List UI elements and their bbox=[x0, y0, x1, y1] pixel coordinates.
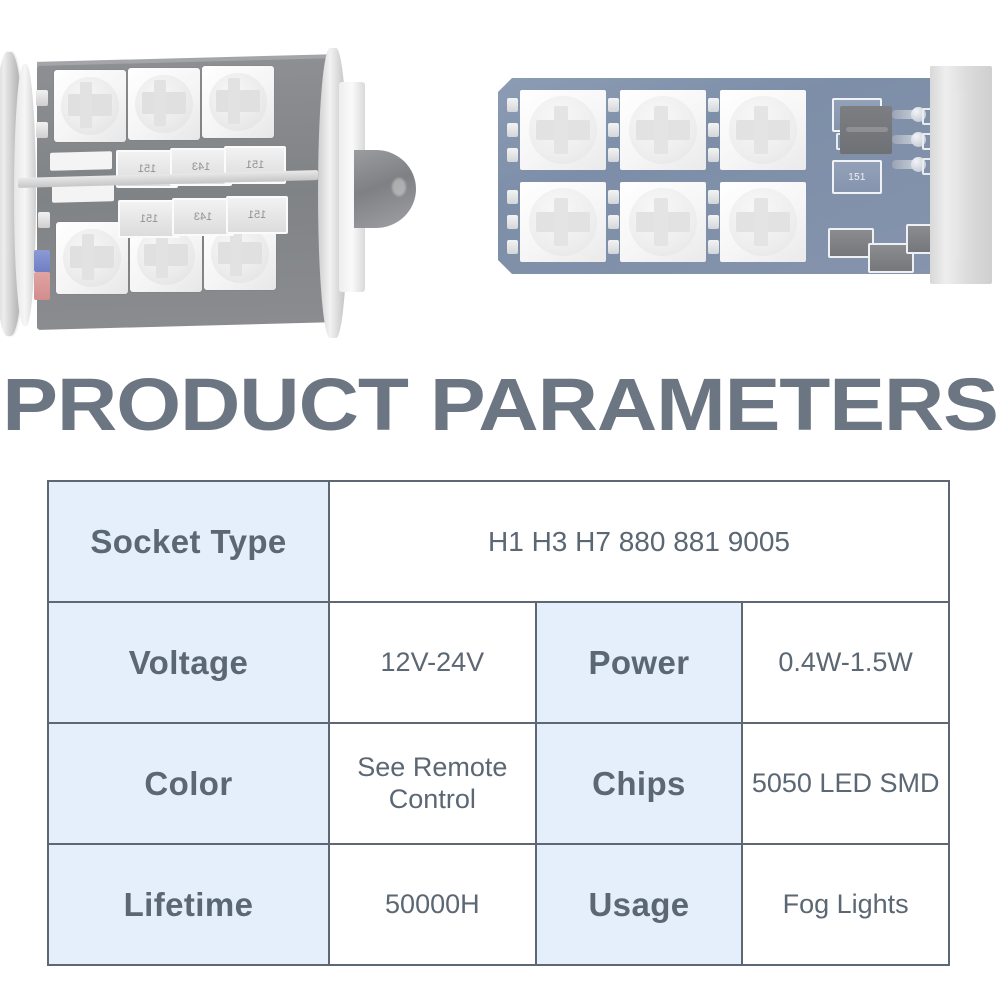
pcb-led-chip bbox=[520, 182, 606, 262]
led-bulb-module-image: 151 143 151 151 143 151 bbox=[0, 22, 452, 342]
pcb-pad bbox=[507, 240, 518, 254]
pcb-pad bbox=[708, 148, 719, 162]
product-image-banner: 151 143 151 151 143 151 bbox=[0, 0, 1000, 360]
table-row: Socket Type H1 H3 H7 880 881 9005 bbox=[48, 481, 949, 602]
pcb-pad bbox=[608, 215, 619, 229]
pcb-ic-leg bbox=[892, 110, 920, 119]
pcb-pad bbox=[708, 123, 719, 137]
spec-label-chips: Chips bbox=[536, 723, 743, 844]
spec-value-chips: 5050 LED SMD bbox=[742, 723, 949, 844]
pcb-pad bbox=[507, 98, 518, 112]
spec-label-socket-type: Socket Type bbox=[48, 481, 329, 602]
spec-label-voltage: Voltage bbox=[48, 602, 329, 723]
spec-value-power: 0.4W-1.5W bbox=[742, 602, 949, 723]
pcb-pad bbox=[507, 123, 518, 137]
table-row: Voltage 12V-24V Power 0.4W-1.5W bbox=[48, 602, 949, 723]
bulb-resistor: 151 bbox=[118, 200, 180, 238]
bulb-tip bbox=[354, 150, 416, 228]
table-row: Color See Remote Control Chips 5050 LED … bbox=[48, 723, 949, 844]
bulb-pin bbox=[36, 122, 48, 138]
bulb-pin bbox=[36, 90, 48, 106]
pcb-ic-leg bbox=[892, 135, 920, 144]
spec-value-usage: Fog Lights bbox=[742, 844, 949, 965]
pcb-led-chip bbox=[520, 90, 606, 170]
bulb-red-component bbox=[34, 272, 50, 300]
pcb-pad bbox=[507, 190, 518, 204]
spec-value-voltage: 12V-24V bbox=[329, 602, 536, 723]
pcb-pad bbox=[507, 215, 518, 229]
spec-label-color: Color bbox=[48, 723, 329, 844]
bulb-led-chip bbox=[128, 68, 200, 140]
product-parameters-table: Socket Type H1 H3 H7 880 881 9005 Voltag… bbox=[47, 480, 950, 966]
spec-value-color: See Remote Control bbox=[329, 723, 536, 844]
pcb-resistor: 151 bbox=[832, 160, 882, 194]
bulb-solder-pad bbox=[50, 151, 112, 171]
bulb-resistor: 151 bbox=[226, 196, 288, 234]
bulb-blue-component bbox=[34, 250, 50, 272]
bulb-led-chip bbox=[54, 70, 126, 142]
pcb-connector-inner bbox=[953, 90, 971, 260]
bulb-pin bbox=[38, 212, 50, 228]
pcb-pad bbox=[708, 190, 719, 204]
pcb-pad bbox=[708, 215, 719, 229]
pcb-pad bbox=[708, 98, 719, 112]
pcb-pad bbox=[608, 190, 619, 204]
spec-value-socket-type: H1 H3 H7 880 881 9005 bbox=[329, 481, 949, 602]
spec-value-lifetime: 50000H bbox=[329, 844, 536, 965]
page-title: PRODUCT PARAMETERS bbox=[0, 362, 1000, 447]
pcb-ic-leg bbox=[892, 160, 920, 169]
pcb-pad bbox=[507, 148, 518, 162]
bulb-led-chip bbox=[202, 66, 274, 138]
pcb-led-chip bbox=[620, 182, 706, 262]
pcb-pad bbox=[608, 240, 619, 254]
spec-label-lifetime: Lifetime bbox=[48, 844, 329, 965]
pcb-led-chip bbox=[720, 182, 806, 262]
spec-label-usage: Usage bbox=[536, 844, 743, 965]
pcb-pad bbox=[608, 148, 619, 162]
pcb-pad bbox=[608, 98, 619, 112]
pcb-pad bbox=[708, 240, 719, 254]
pcb-led-chip bbox=[620, 90, 706, 170]
table-row: Lifetime 50000H Usage Fog Lights bbox=[48, 844, 949, 965]
pcb-driver-ic bbox=[840, 106, 892, 154]
spec-label-power: Power bbox=[536, 602, 743, 723]
pcb-led-chip bbox=[720, 90, 806, 170]
pcb-pad bbox=[608, 123, 619, 137]
bulb-metal-ring-inner bbox=[14, 64, 36, 326]
led-pcb-board-image: 151 151 bbox=[498, 78, 978, 278]
bulb-resistor: 143 bbox=[172, 198, 234, 236]
